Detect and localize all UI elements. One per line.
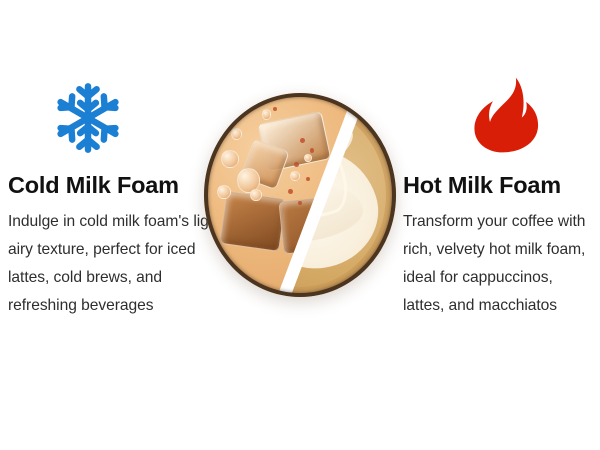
coffee-speck [310,148,314,152]
foam-bubble [221,150,238,168]
cold-milk-foam-panel: Cold Milk Foam Indulge in cold milk foam… [8,172,230,320]
coffee-speck [306,177,310,181]
cold-panel-title: Cold Milk Foam [8,172,230,198]
hot-panel-description: Transform your coffee with rich, velvety… [403,208,593,320]
coffee-speck [294,162,299,167]
coffee-speck [273,107,277,111]
cold-panel-description: Indulge in cold milk foam's light, airy … [8,208,230,320]
snowflake-icon [52,82,124,154]
foam-bubble [290,171,300,181]
foam-bubble [262,109,272,119]
foam-bubble [250,189,262,201]
split-coffee-photo [204,93,396,297]
hot-milk-foam-panel: Hot Milk Foam Transform your coffee with… [403,172,593,320]
flame-icon [470,76,544,154]
foam-bubble [231,128,243,140]
foam-bubble [217,185,230,199]
coffee-speck [298,201,301,205]
coffee-circle [204,93,396,297]
hot-panel-title: Hot Milk Foam [403,172,593,198]
comparison-infographic: Cold Milk Foam Indulge in cold milk foam… [0,0,600,450]
coffee-speck [288,189,293,194]
foam-bubble [304,154,312,162]
